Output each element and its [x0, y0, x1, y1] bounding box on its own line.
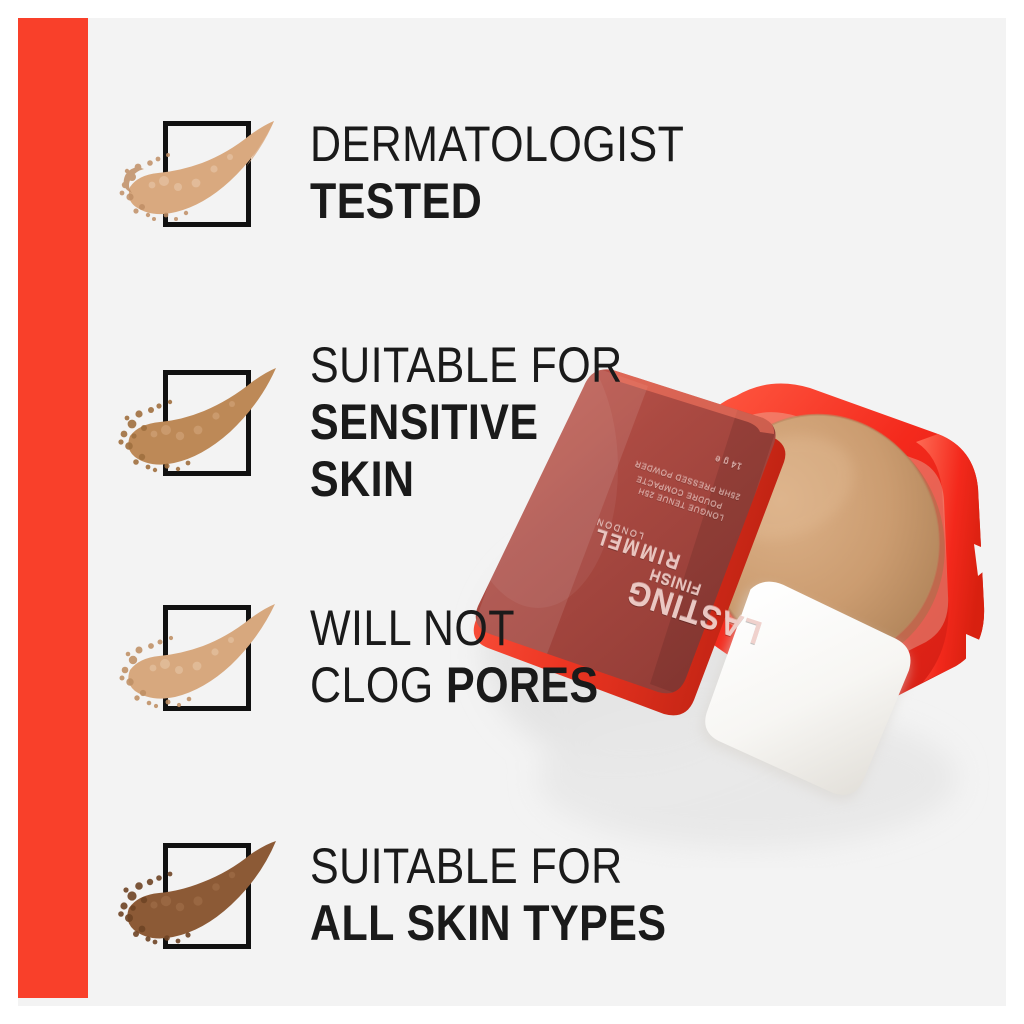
image-canvas: 25HR PRESSED POWDER POUDRE COMPACTE LONG… [18, 18, 1006, 1006]
accent-bar-left [18, 18, 88, 998]
swatch-dermatologist-tested [118, 101, 293, 251]
feature-line-2: ALL SKIN TYPES [310, 898, 666, 948]
feature-line-2-prefix: CLOG [310, 657, 446, 713]
feature-line-2-bold: PORES [446, 657, 599, 713]
swatch-clog-pores [118, 585, 293, 735]
feature-label-group: SUITABLE FOR ALL SKIN TYPES [310, 841, 724, 955]
feature-line-3: SKIN [310, 454, 623, 504]
feature-line-1: DERMATOLOGIST [310, 119, 684, 169]
feature-line-2: CLOG PORES [310, 660, 599, 710]
feature-will-not-clog-pores: WILL NOT CLOG PORES [118, 580, 758, 740]
feature-label-group: WILL NOT CLOG PORES [310, 603, 646, 717]
feature-line-1: SUITABLE FOR [310, 841, 666, 891]
feature-line-2: SENSITIVE [310, 397, 623, 447]
swatch-sensitive-skin [118, 350, 293, 500]
swatch-outline-box [163, 121, 251, 227]
swatch-outline-box [163, 605, 251, 711]
feature-dermatologist-tested: DERMATOLOGIST TESTED [118, 96, 758, 256]
product-feature-graphic: 25HR PRESSED POWDER POUDRE COMPACTE LONG… [0, 0, 1024, 1024]
feature-line-1: SUITABLE FOR [310, 340, 623, 390]
swatch-outline-box [163, 370, 251, 476]
swatch-outline-box [163, 843, 251, 949]
feature-suitable-sensitive-skin: SUITABLE FOR SENSITIVE SKIN [118, 330, 758, 520]
feature-line-2: TESTED [310, 176, 684, 226]
feature-label-group: SUITABLE FOR SENSITIVE SKIN [310, 340, 673, 511]
swatch-all-skin-types [118, 823, 293, 973]
feature-line-1: WILL NOT [310, 603, 599, 653]
feature-suitable-all-skin-types: SUITABLE FOR ALL SKIN TYPES [118, 818, 758, 978]
feature-label-group: DERMATOLOGIST TESTED [310, 119, 745, 233]
